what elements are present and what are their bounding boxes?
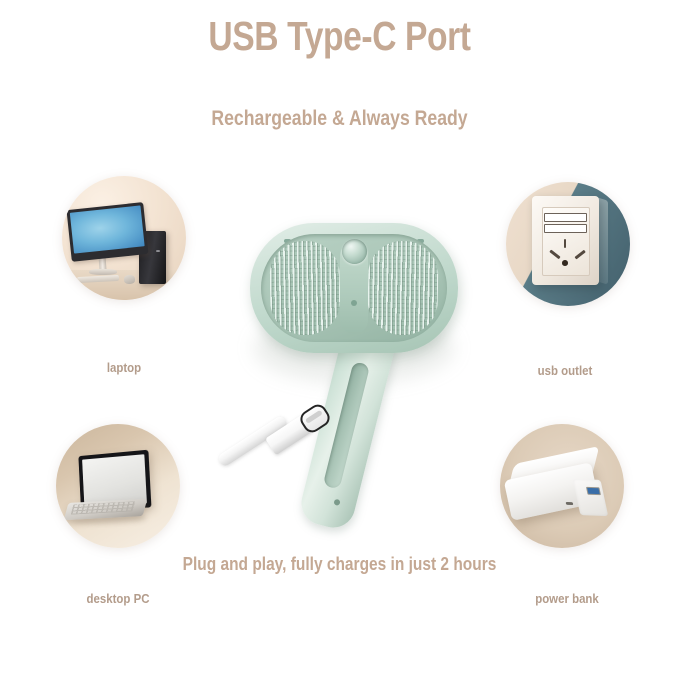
node-image-desktop-pc xyxy=(56,424,180,548)
product-brush-head xyxy=(250,223,458,353)
socket-prong-vertical xyxy=(564,239,567,248)
usb-c-cable xyxy=(218,398,348,494)
brush-center-dot xyxy=(351,300,357,306)
self-clean-button[interactable] xyxy=(342,239,367,264)
node-label-power-bank: power bank xyxy=(483,590,650,607)
handle-screw xyxy=(333,499,340,506)
mouse xyxy=(124,275,135,284)
node-label-desktop-pc: desktop PC xyxy=(34,590,201,607)
node-image-power-bank xyxy=(500,424,624,548)
usb-port-icon-upper xyxy=(544,213,587,222)
infographic-page: USB Type-C Port Rechargeable & Always Re… xyxy=(0,0,679,679)
page-subtitle: Rechargeable & Always Ready xyxy=(54,106,624,132)
monitor-screen xyxy=(67,202,149,262)
node-label-laptop: laptop xyxy=(40,359,207,376)
desk-surface xyxy=(62,270,186,300)
desktop-monitor-photo xyxy=(62,176,186,300)
node-label-usb-outlet: usb outlet xyxy=(481,362,648,379)
power-bank-end-face xyxy=(573,478,609,515)
page-title: USB Type-C Port xyxy=(61,12,618,60)
bristle-panel-right xyxy=(367,240,439,335)
node-image-laptop xyxy=(62,176,186,300)
product-grooming-brush xyxy=(236,205,486,545)
feature-caption: Plug and play, fully charges in just 2 h… xyxy=(48,552,632,576)
power-bank-photo xyxy=(500,424,624,548)
open-laptop-photo xyxy=(56,424,180,548)
usb-a-port-icon xyxy=(586,487,601,495)
usb-port-icon-lower xyxy=(544,224,587,233)
socket-hole xyxy=(562,260,568,266)
node-image-usb-outlet xyxy=(506,182,630,306)
wall-outlet-photo xyxy=(506,182,630,306)
bristle-panel-left xyxy=(269,240,341,335)
